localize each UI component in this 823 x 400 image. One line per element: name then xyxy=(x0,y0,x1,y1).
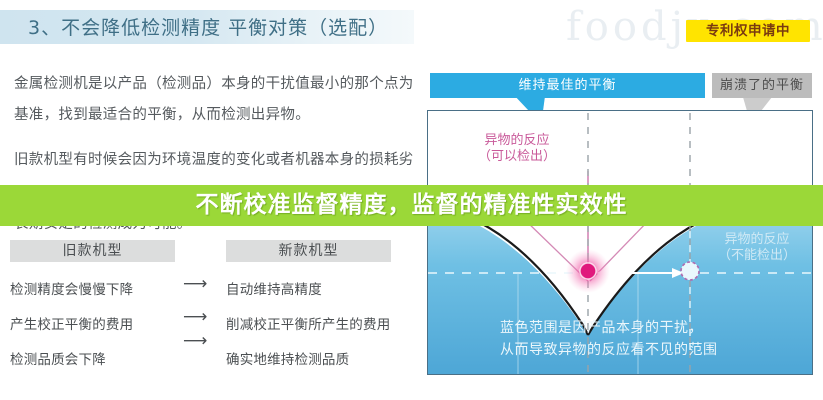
table-cell-new-2: 削减校正平衡所产生的费用 xyxy=(226,313,390,333)
overlay-banner-text: 不断校准监督精度，监督的精准性实效性 xyxy=(0,185,823,226)
table-cell-old-2: 产生校正平衡的费用 xyxy=(10,313,133,333)
label-foreign-object-undetectable-line2: （不能检出） xyxy=(718,248,796,264)
chart-caption-line1: 蓝色范围是因产品本身的干扰， xyxy=(500,318,718,340)
table-header-old-model: 旧款机型 xyxy=(10,240,175,262)
body-paragraph-line-2: 基准，找到最适合的平衡，从而检测出异物。 xyxy=(14,103,310,124)
chart-caption: 蓝色范围是因产品本身的干扰， 从而导致异物的反应看不见的范围 xyxy=(500,318,718,361)
label-foreign-object-detectable-line1: 异物的反应 xyxy=(478,133,556,149)
table-cell-new-3: 确实地维持检测品质 xyxy=(226,348,349,368)
chart-caption-line2: 从而导致异物的反应看不见的范围 xyxy=(500,340,718,362)
label-foreign-object-undetectable-line1: 异物的反应 xyxy=(718,232,796,248)
callout-broken-balance-label: 崩溃了的平衡 xyxy=(712,73,812,98)
table-cell-old-3: 检测品质会下降 xyxy=(10,348,106,368)
patent-pending-badge: 专利权申请中 xyxy=(686,20,810,42)
callout-broken-balance: 崩溃了的平衡 xyxy=(712,73,812,98)
screenshot-root: foodjx.com 3、不会降低检测精度 平衡对策（选配） 金属检测机是以产品… xyxy=(0,0,823,400)
body-paragraph-line-3: 旧款机型有时候会因为环境温度的变化或者机器本身的损耗劣 xyxy=(14,148,414,169)
table-header-new-model: 新款机型 xyxy=(226,240,391,262)
label-foreign-object-undetectable: 异物的反应 （不能检出） xyxy=(718,232,796,265)
table-arrow-3: ⟶ xyxy=(183,333,207,350)
page-title: 3、不会降低检测精度 平衡对策（选配） xyxy=(28,13,388,40)
label-foreign-object-detectable-line2: （可以检出） xyxy=(478,149,556,165)
callout-optimal-balance: 维持最佳的平衡 xyxy=(430,73,705,98)
label-foreign-object-detectable: 异物的反应 （可以检出） xyxy=(478,133,556,166)
table-cell-new-1: 自动维持高精度 xyxy=(226,278,322,298)
body-paragraph-line-1: 金属检测机是以产品（检测品）本身的干扰值最小的那个点为 xyxy=(14,72,414,93)
table-cell-old-1: 检测精度会慢慢下降 xyxy=(10,278,133,298)
table-arrow-1: ⟶ xyxy=(183,276,207,293)
table-arrow-2: ⟶ xyxy=(183,309,207,326)
callout-optimal-balance-label: 维持最佳的平衡 xyxy=(430,73,705,98)
